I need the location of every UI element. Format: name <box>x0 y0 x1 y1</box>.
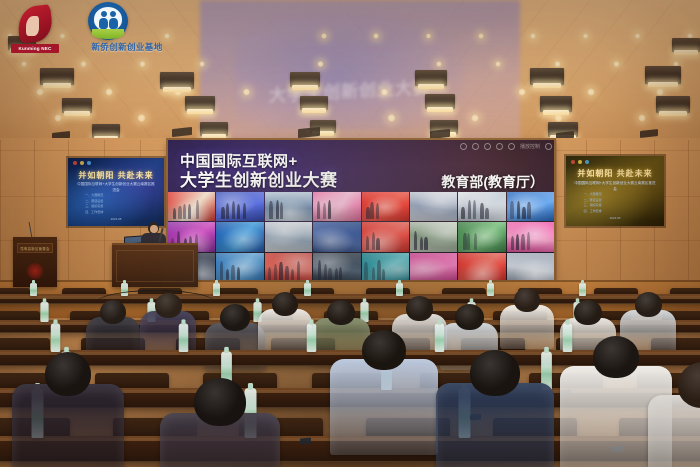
right-screen-date: 2023.05 <box>566 216 664 220</box>
collage-figure <box>291 269 294 280</box>
ceiling-downlight <box>373 33 379 39</box>
ceiling-light-fixture <box>672 38 700 52</box>
screen-bullet: 四、工作安排 <box>85 210 103 216</box>
person-head <box>45 352 91 396</box>
person-head <box>272 292 298 316</box>
screen-bullet: 四、工作安排 <box>584 209 602 215</box>
water-bottle <box>487 283 494 296</box>
xinqiao-logo-caption: 新侨创新创业基地 <box>72 41 182 53</box>
collage-figure <box>269 201 272 220</box>
right-screen-bullets: 一、大赛概况二、赛道设置三、组织实施四、工作安排 <box>584 192 602 214</box>
person-head <box>574 300 602 325</box>
water-bottle <box>40 302 48 322</box>
collage-photo-detail <box>458 253 505 282</box>
collage-photo <box>507 222 554 251</box>
audience-seating <box>0 286 700 467</box>
person-head <box>194 378 246 426</box>
person-torso <box>12 384 124 467</box>
figure-head-right-icon <box>110 11 116 17</box>
collage-photo-detail <box>313 222 360 251</box>
collage-photo <box>313 192 360 221</box>
collage-figure <box>376 238 379 249</box>
collage-figure <box>173 208 176 220</box>
collage-photo <box>265 192 312 221</box>
xinqiao-innovation-base-logo <box>88 2 128 40</box>
flame-notch-icon <box>26 16 39 36</box>
person-head <box>635 292 662 317</box>
collage-photo-detail <box>216 253 263 282</box>
person-torso <box>330 359 438 455</box>
conference-hall-photo: 大学生创新创业大赛 并如朝阳 共赴未来 中国国际互联网+大学生创新创业大赛云南赛… <box>0 0 700 467</box>
collage-figure <box>317 201 320 219</box>
left-side-screen: 并如朝阳 共赴未来 中国国际互联网+大学生创新创业大赛云南赛区推进会 一、大赛概… <box>68 158 164 226</box>
attendee <box>205 304 265 379</box>
side-podium: 昆明高新区管委会 <box>13 237 57 287</box>
ceiling-downlight <box>105 88 113 96</box>
collage-figure <box>279 262 282 280</box>
video-wall-toolbar[interactable]: 播放控制 <box>460 141 552 151</box>
water-bottle <box>51 323 61 352</box>
presenter-face <box>150 225 158 233</box>
left-screen-date: 2023.05 <box>68 217 164 221</box>
wall-seam <box>688 140 689 285</box>
leaf-icon <box>92 29 124 39</box>
collage-figure <box>231 265 234 280</box>
attendee <box>500 288 554 356</box>
collage-figure <box>237 267 240 280</box>
collage-photo <box>507 253 554 282</box>
ceiling-downlight <box>478 33 484 39</box>
fullscreen-icon[interactable] <box>496 143 503 150</box>
collage-photo-detail <box>265 222 312 251</box>
collage-photo <box>265 222 312 251</box>
right-screen-title: 并如朝阳 共赴未来 <box>566 168 664 179</box>
water-bottle <box>307 323 317 352</box>
collage-figure <box>226 269 229 280</box>
collage-photo <box>313 222 360 251</box>
side-podium-plate-text: 昆明高新区管委会 <box>18 244 52 254</box>
main-led-video-wall: 播放控制 中国国际互联网+ 大学生创新创业大赛 教育部(教育厅） <box>168 140 554 282</box>
collage-figure <box>511 236 514 250</box>
collage-figure <box>328 268 331 280</box>
collage-figure <box>377 260 380 280</box>
collage-figure <box>372 267 375 280</box>
collage-photo <box>410 253 457 282</box>
collage-photo-detail <box>362 253 409 282</box>
ceiling-downlight <box>80 61 87 68</box>
collage-figure <box>527 202 530 219</box>
collage-photo <box>216 192 263 221</box>
attendee-foreground <box>330 330 438 466</box>
attendee-foreground <box>648 362 700 467</box>
wall-seam <box>556 140 557 285</box>
left-screen-subtitle: 中国国际互联网+大学生创新创业大赛云南赛区推进会 <box>76 181 157 193</box>
collage-photo-detail <box>410 253 457 282</box>
close-icon[interactable] <box>545 143 552 150</box>
figure-head-left-icon <box>101 11 107 17</box>
collage-photo <box>410 192 457 221</box>
collage-figure <box>372 232 375 250</box>
person-head <box>514 288 540 312</box>
collage-figure <box>510 201 513 219</box>
attendee-foreground <box>436 350 554 467</box>
collage-figure <box>226 203 229 219</box>
person-head <box>362 330 406 370</box>
person-head <box>593 336 639 378</box>
ceiling-light-fixture <box>645 66 681 84</box>
ceiling-downlight <box>530 33 536 39</box>
left-screen-title: 并如朝阳 共赴未来 <box>68 170 164 181</box>
figure-body-right-icon <box>109 18 118 29</box>
restore-icon[interactable] <box>472 143 479 150</box>
person-head <box>470 350 520 396</box>
left-screen-dots <box>73 161 91 165</box>
collage-figure <box>370 202 373 220</box>
person-head <box>406 296 433 321</box>
kunming-logo-bar: Kunming NEC <box>11 44 59 53</box>
ceiling-downlight <box>518 88 526 96</box>
photo-collage <box>168 192 554 282</box>
person-head <box>220 304 250 331</box>
collage-photo <box>458 253 505 282</box>
collage-figure <box>335 268 338 280</box>
kunming-logo-text: Kunming NEC <box>11 44 59 53</box>
attendee-foreground <box>160 378 280 467</box>
collage-figure <box>276 200 279 219</box>
collage-figure <box>366 207 369 219</box>
collage-photo <box>458 192 505 221</box>
collage-figure <box>318 260 321 280</box>
collage-figure <box>178 206 181 220</box>
ceiling-downlight <box>656 88 664 96</box>
figure-body-left-icon <box>99 18 108 29</box>
ceiling-light-fixture <box>40 68 74 85</box>
collage-figure <box>522 207 525 220</box>
ceiling-light-fixture <box>200 122 228 136</box>
collage-figure <box>221 207 224 220</box>
collage-photo <box>362 222 409 251</box>
collage-figure <box>521 234 524 250</box>
attendee-foreground <box>12 352 124 467</box>
headline-line-1: 中国国际互联网+ <box>180 152 338 171</box>
video-wall-headline: 中国国际互联网+ 大学生创新创业大赛 <box>180 152 338 190</box>
right-screen-dots <box>571 160 589 164</box>
ceiling-downlight <box>381 88 389 96</box>
person-head <box>155 293 182 318</box>
collage-figure <box>474 233 477 250</box>
podium-emblem <box>27 263 43 279</box>
collage-photo <box>168 192 215 221</box>
collage-figure <box>328 200 331 219</box>
collage-photo <box>265 253 312 282</box>
ceiling-light-fixture <box>290 72 320 87</box>
collage-photo <box>362 253 409 282</box>
collage-figure <box>485 208 488 220</box>
ceiling-downlight <box>317 61 324 68</box>
water-bottle <box>396 283 403 296</box>
ceiling-light-fixture <box>62 98 92 113</box>
minimize-icon[interactable] <box>460 143 467 150</box>
collage-figure <box>268 267 271 280</box>
collage-figure <box>468 200 471 219</box>
collage-figure <box>424 237 427 249</box>
person-head <box>455 304 484 330</box>
collage-photo-detail <box>313 192 360 221</box>
collage-figure <box>232 201 235 219</box>
smartphone-on-desk <box>300 438 311 445</box>
ceiling-downlight <box>554 61 561 68</box>
ceiling-light-fixture <box>300 96 328 110</box>
ceiling-light-fixture <box>530 68 564 85</box>
water-bottle <box>579 283 586 296</box>
ceiling-light-fixture <box>185 96 215 111</box>
collage-figure <box>183 204 186 219</box>
collage-photo-detail <box>507 253 554 282</box>
collage-photo <box>507 192 554 221</box>
right-screen-subtitle: 中国国际互联网+大学生创新创业大赛云南赛区推进会 <box>574 180 656 192</box>
water-bottle <box>179 323 189 352</box>
collage-figure <box>461 207 464 220</box>
left-screen-bullets: 一、大赛概况二、赛道设置三、组织实施四、工作安排 <box>85 193 103 215</box>
ceiling-downlight <box>387 114 396 123</box>
ceiling-light-fixture <box>540 96 572 112</box>
right-side-screen: 并如朝阳 共赴未来 中国国际互联网+大学生创新创业大赛云南赛区推进会 一、大赛概… <box>566 156 664 226</box>
collage-figure <box>280 202 283 220</box>
logo-overlay: Kunming NEC 新侨创新创业基地 <box>0 0 190 60</box>
collage-figure <box>414 231 417 249</box>
collage-figure <box>527 232 530 250</box>
person-head <box>327 300 355 325</box>
collage-figure <box>285 266 288 280</box>
water-bottle <box>213 283 220 296</box>
wall-seam <box>0 140 1 285</box>
settings-icon[interactable] <box>484 143 491 150</box>
logo-inner-shape <box>94 7 122 31</box>
collage-photo <box>313 253 360 282</box>
ceiling-downlight <box>426 33 432 39</box>
ceiling-downlight <box>583 33 589 39</box>
ceiling-downlight <box>36 88 44 96</box>
ceiling-light-fixture <box>425 94 455 109</box>
collage-figure <box>196 200 199 220</box>
person-head <box>100 300 126 324</box>
collage-figure <box>420 237 423 250</box>
collage-photo <box>362 192 409 221</box>
ceiling-downlight <box>554 114 563 123</box>
ceiling-downlight <box>137 114 146 123</box>
ceiling-light-fixture <box>160 72 194 89</box>
ceiling-downlight <box>139 61 146 68</box>
ceiling-light-fixture <box>415 70 447 86</box>
ceiling-light-fixture <box>656 96 690 113</box>
collage-photo-detail <box>216 222 263 251</box>
video-wall-organizer: 教育部(教育厅） <box>441 172 544 192</box>
water-bottle <box>30 283 37 296</box>
collage-figure <box>364 262 367 280</box>
ceiling-downlight <box>587 88 595 96</box>
ceiling-downlight <box>321 33 327 39</box>
collage-figure <box>324 264 327 280</box>
collage-photo-detail <box>410 192 457 221</box>
kunming-high-tech-logo: Kunming NEC <box>8 4 64 56</box>
collage-photo <box>216 253 263 282</box>
collage-figure <box>220 261 223 280</box>
pen-icon[interactable] <box>508 143 515 150</box>
collage-photo <box>458 222 505 251</box>
headline-line-2: 大学生创新创业大赛 <box>180 171 338 190</box>
collage-figure <box>480 203 483 219</box>
collage-photo <box>216 222 263 251</box>
ceiling-light-fixture <box>92 124 120 138</box>
collage-figure <box>274 264 277 280</box>
side-podium-plate: 昆明高新区管委会 <box>17 243 53 253</box>
collage-photo <box>410 222 457 251</box>
toolbar-label: 播放控制 <box>520 143 540 150</box>
